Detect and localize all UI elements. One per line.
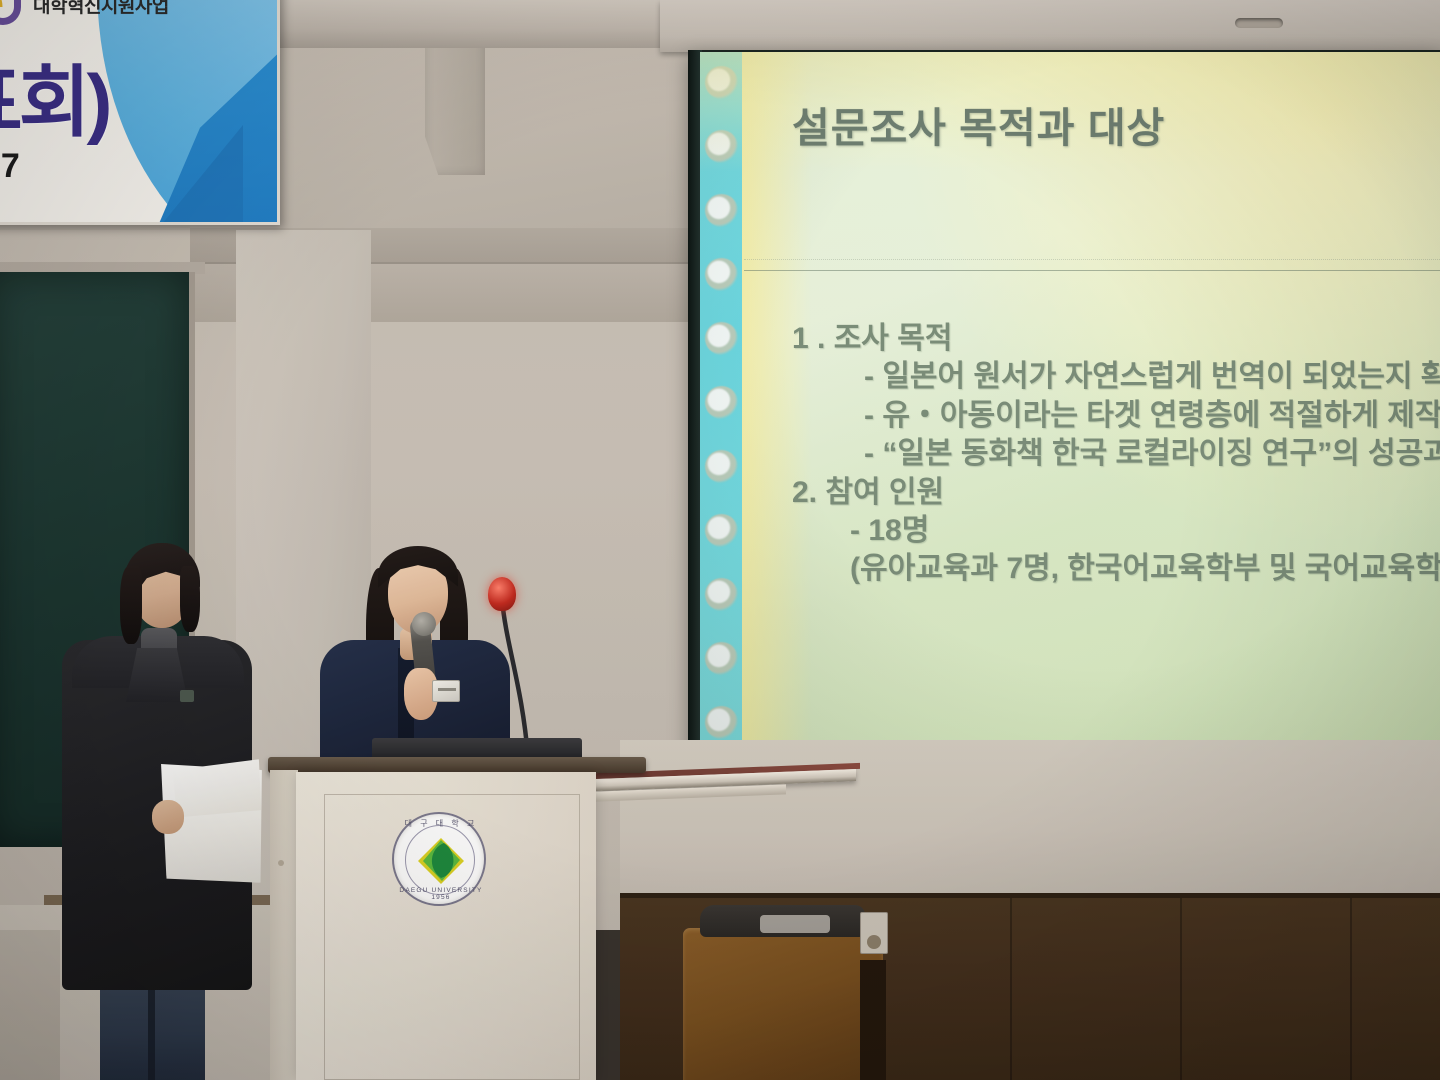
- podium-knob: [278, 860, 284, 866]
- slide-body-line: 1 . 조사 목적: [792, 320, 1440, 358]
- ring-icon: [705, 130, 738, 163]
- cabinet-shadow-side: [860, 960, 886, 1080]
- presentation-slide: 설문조사 목적과 대상 1 . 조사 목적- 일본어 원서가 자연스럽게 번역이…: [700, 52, 1440, 754]
- podium-side-panel: [270, 770, 298, 1080]
- emblem-top-text: 대 구 대 학 교: [394, 818, 488, 829]
- banner-number-fragment: 437: [0, 147, 20, 186]
- slide-divider: [744, 270, 1440, 271]
- slide-title: 설문조사 목적과 대상: [792, 94, 1165, 154]
- ring-icon: [705, 66, 738, 99]
- event-banner: University Innovation 대학혁신지원사업 표회) 437: [0, 0, 280, 225]
- ceiling-soffit: [660, 0, 1440, 52]
- lower-wall-beige: [620, 740, 1440, 905]
- wood-seam: [1180, 898, 1182, 1080]
- ring-icon: [705, 706, 738, 739]
- slide-body-line: - “일본 동화책 한국 로컬라이징 연구”의 성공과 실: [792, 435, 1440, 473]
- slide-body-line: - 18명: [792, 512, 1440, 550]
- wall-outlet-icon: [860, 912, 888, 954]
- ring-icon: [705, 578, 738, 611]
- lecture-hall-photo: University Innovation 대학혁신지원사업 표회) 437 설…: [0, 0, 1440, 1080]
- ceiling-vent-icon: [1235, 18, 1283, 28]
- slide-sidebar-decoration: [700, 52, 742, 754]
- speaker-name-badge: [432, 680, 460, 702]
- wood-seam: [1010, 898, 1012, 1080]
- ring-icon: [705, 642, 738, 675]
- mic-head-icon: [488, 577, 516, 611]
- ring-icon: [705, 386, 738, 419]
- cabinet-item-light: [760, 915, 830, 933]
- floor-step: [0, 930, 60, 1080]
- slide-body-line: - 유・아동이라는 타겟 연령층에 적절하게 제작되었: [792, 397, 1440, 435]
- ring-icon: [705, 258, 738, 291]
- slide-body-text: 1 . 조사 목적- 일본어 원서가 자연스럽게 번역이 되었는지 확인- 유・…: [792, 320, 1440, 589]
- wooden-cabinet: [683, 928, 883, 1080]
- banner-program-label: 대학혁신지원사업: [33, 0, 169, 18]
- ring-icon: [705, 194, 738, 227]
- presenter-left-leg-gap: [148, 990, 155, 1080]
- university-emblem: 대 구 대 학 교 DAEGU UNIVERSITY 1956: [392, 812, 486, 906]
- gooseneck-microphone: [466, 575, 586, 760]
- ring-icon: [705, 450, 738, 483]
- podium-top-surface: [268, 757, 646, 773]
- wood-seam: [1350, 898, 1352, 1080]
- slide-body-line: - 일본어 원서가 자연스럽게 번역이 되었는지 확인: [792, 358, 1440, 396]
- slide-body-line: (유아교육과 7명, 한국어교육학부 및 국어교육학과: [792, 550, 1440, 588]
- presenter-left-coat-button: [180, 690, 194, 702]
- ring-icon: [705, 322, 738, 355]
- presenter-left-hand: [152, 800, 184, 834]
- program-logo-icon: [0, 0, 25, 25]
- banner-title-fragment: 표회): [0, 40, 109, 152]
- presenter-left-hair-side: [120, 566, 142, 644]
- slide-divider-faint: [744, 259, 1440, 260]
- slide-body-line: 2. 참여 인원: [792, 474, 1440, 512]
- emblem-leaf-icon: [414, 834, 468, 888]
- emblem-bottom-text: DAEGU UNIVERSITY 1956: [394, 887, 488, 901]
- ring-icon: [705, 514, 738, 547]
- presenter-left-hair-side-right: [180, 566, 200, 632]
